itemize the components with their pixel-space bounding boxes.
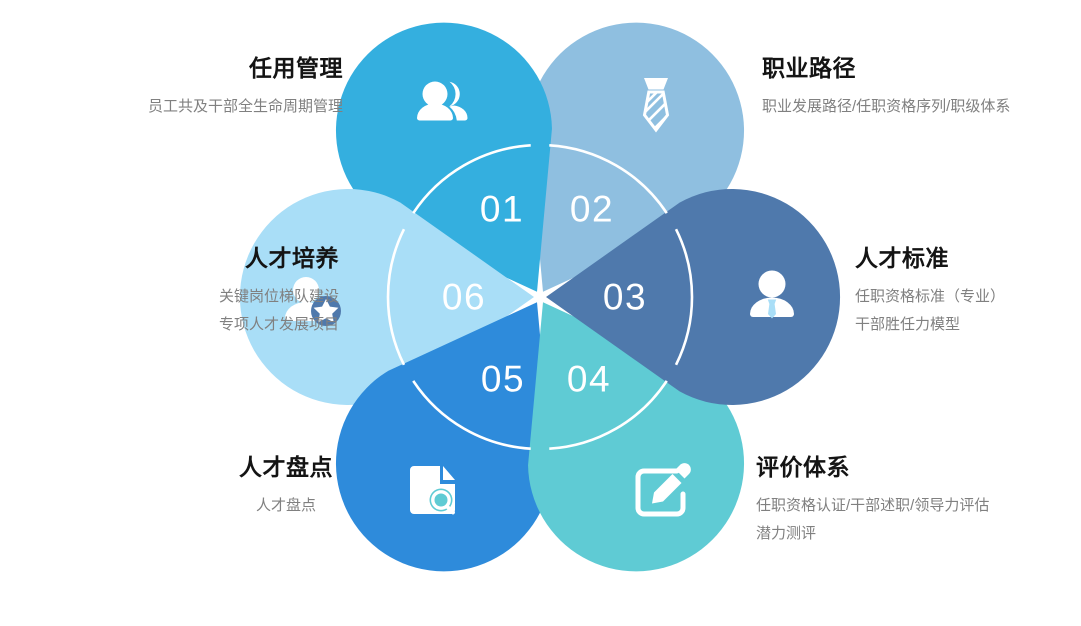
ring-arc-01	[549, 145, 666, 213]
petal-number-05: 05	[481, 359, 525, 400]
inner-ring	[388, 145, 692, 448]
petal-06[interactable]	[546, 189, 840, 405]
ring-arc-06	[676, 229, 692, 365]
document-search-icon	[410, 466, 455, 514]
petal-title-03: 人才标准	[855, 246, 1005, 271]
ring-arc-02	[413, 145, 530, 213]
petal-title-06: 人才培养	[219, 246, 339, 271]
petal-number-03: 03	[603, 277, 647, 318]
petal-desc-01-line-1: 员工共及干部全生命周期管理	[148, 93, 343, 121]
necktie-icon	[636, 78, 674, 143]
users-icon	[417, 82, 468, 121]
petal-02[interactable]	[296, 0, 630, 346]
petal-04[interactable]	[296, 248, 630, 611]
ring-arc-04	[413, 381, 530, 449]
petal-desc-04-line-2: 潜力测评	[756, 520, 989, 548]
petal-title-05: 人才盘点	[239, 455, 333, 480]
petal-number-04: 04	[567, 359, 611, 400]
petal-number-02: 02	[570, 189, 614, 230]
petal-01[interactable]	[449, 0, 783, 346]
petal-number-01: 01	[480, 189, 524, 230]
edit-square-icon	[638, 463, 691, 514]
petal-numbers: 010203040506	[442, 189, 647, 400]
ring-arc-05	[549, 381, 666, 449]
petal-desc-06-line-2: 专项人才发展项目	[219, 311, 339, 339]
petal-label-03: 人才标准 任职资格标准（专业） 干部胜任力模型	[855, 246, 1005, 339]
petal-05[interactable]	[449, 248, 783, 611]
petal-number-06: 06	[442, 277, 486, 318]
petal-desc-04-line-1: 任职资格认证/干部述职/领导力评估	[756, 492, 989, 520]
petal-icons	[285, 78, 794, 514]
businessman-icon	[750, 271, 794, 319]
petal-title-02: 职业路径	[762, 56, 1010, 81]
petal-desc-05-line-1: 人才盘点	[239, 492, 333, 520]
talent-management-flower-diagram: 010203040506 任用管理 员工共及干部全生命周期管理 职业路径 职业发…	[0, 0, 1081, 626]
petal-label-06: 人才培养 关键岗位梯队建设 专项人才发展项目	[219, 246, 339, 339]
petal-desc-02-line-1: 职业发展路径/任职资格序列/职级体系	[762, 93, 1010, 121]
petal-label-05: 人才盘点 人才盘点	[239, 455, 333, 520]
petal-label-02: 职业路径 职业发展路径/任职资格序列/职级体系	[762, 56, 1010, 121]
ring-arc-03	[388, 229, 404, 365]
petal-label-04: 评价体系 任职资格认证/干部述职/领导力评估 潜力测评	[756, 455, 989, 548]
petal-desc-06-line-1: 关键岗位梯队建设	[219, 283, 339, 311]
petal-desc-03-line-2: 干部胜任力模型	[855, 311, 1005, 339]
petal-title-04: 评价体系	[756, 455, 989, 480]
petal-label-01: 任用管理 员工共及干部全生命周期管理	[148, 56, 343, 121]
petal-title-01: 任用管理	[148, 56, 343, 81]
petal-desc-03-line-1: 任职资格标准（专业）	[855, 283, 1005, 311]
